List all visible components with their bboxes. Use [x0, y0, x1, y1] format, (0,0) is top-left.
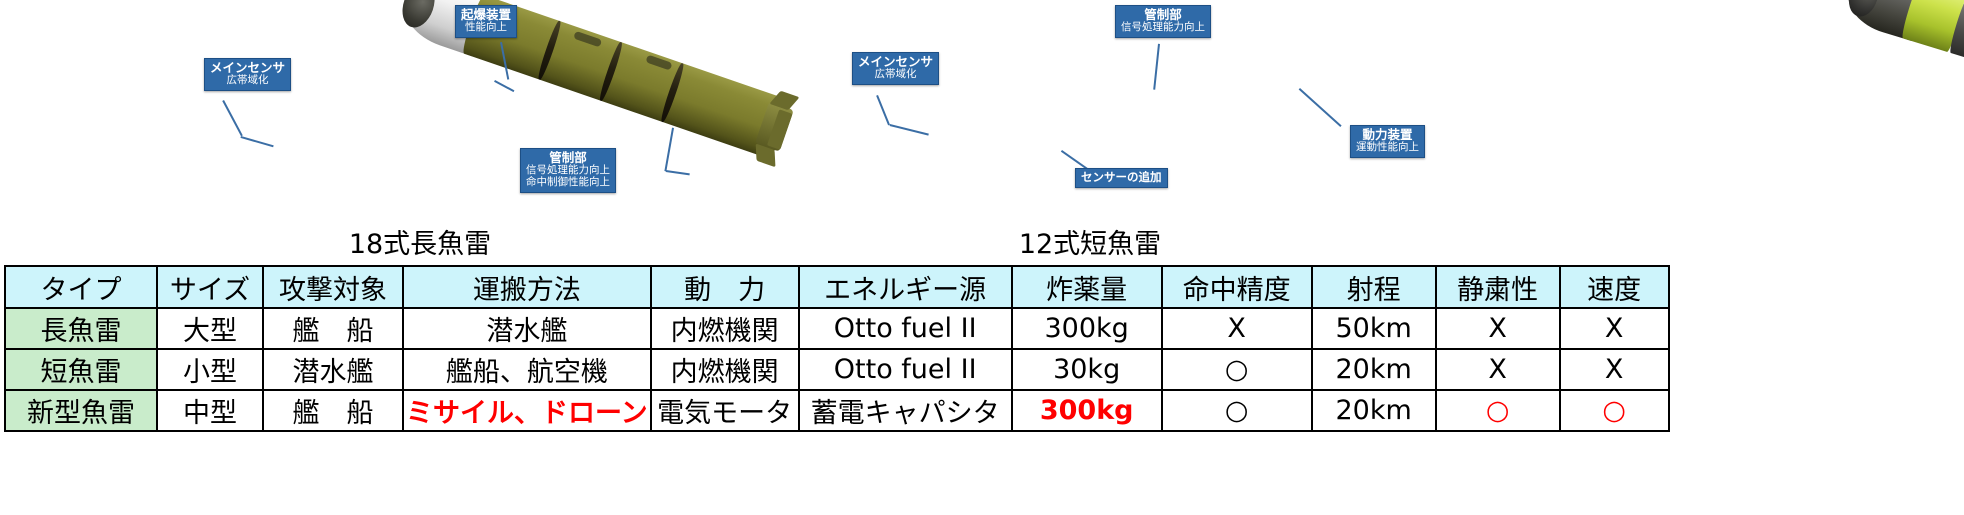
cell-size: 小型 — [157, 349, 263, 390]
column-header-accuracy: 命中精度 — [1162, 266, 1312, 308]
table-header-row: タイプ サイズ 攻撃対象 運搬方法 動 力 エネルギー源 炸薬量 命中精度 射程… — [5, 266, 1669, 308]
cell-target: 艦 船 — [263, 390, 403, 431]
callout-title: センサーの追加 — [1081, 171, 1162, 184]
table-row: 短魚雷 小型 潜水艦 艦船、航空機 内燃機関 Otto fuel II 30kg… — [5, 349, 1669, 390]
callout-title: メインセンサ — [210, 61, 285, 75]
callout-title: 起爆装置 — [461, 8, 511, 22]
callout-power-unit: 動力装置 運動性能向上 — [1350, 125, 1425, 158]
callout-subtitle: 信号処理能力向上 — [1121, 22, 1205, 34]
cell-type: 長魚雷 — [5, 308, 157, 349]
cell-energy: 蓄電キャパシタ — [799, 390, 1012, 431]
callout-control-unit: 管制部 信号処理能力向上 命中制御性能向上 — [520, 148, 616, 193]
figure-caption-type12: 12式短魚雷 — [880, 222, 1300, 261]
cell-speed: X — [1560, 308, 1669, 349]
cell-warhead: 300kg — [1012, 308, 1162, 349]
figure-type18-torpedo: メインセンサ 広帯域化 起爆装置 性能向上 管制部 信号処理能力向上 命中制御性… — [150, 0, 790, 250]
cell-quietness: X — [1436, 308, 1560, 349]
column-header-target: 攻撃対象 — [263, 266, 403, 308]
cell-range: 50km — [1312, 308, 1436, 349]
callout-title: メインセンサ — [858, 55, 933, 69]
cell-size: 大型 — [157, 308, 263, 349]
callout-sensor-addition: センサーの追加 — [1075, 168, 1168, 188]
callout-main-sensor: メインセンサ 広帯域化 — [852, 52, 939, 85]
leader-line-power-unit — [1299, 88, 1342, 127]
table-row: 新型魚雷 中型 艦 船 ミサイル、ドローン 電気モータ 蓄電キャパシタ 300k… — [5, 390, 1669, 431]
cell-warhead: 300kg — [1012, 390, 1162, 431]
cell-propulsion: 内燃機関 — [651, 308, 799, 349]
cell-range: 20km — [1312, 390, 1436, 431]
cell-target: 艦 船 — [263, 308, 403, 349]
callout-main-sensor: メインセンサ 広帯域化 — [204, 58, 291, 91]
cell-type: 短魚雷 — [5, 349, 157, 390]
column-header-propulsion: 動 力 — [651, 266, 799, 308]
cell-type: 新型魚雷 — [5, 390, 157, 431]
column-header-size: サイズ — [157, 266, 263, 308]
callout-subtitle: 性能向上 — [461, 22, 511, 34]
cell-energy: Otto fuel II — [799, 308, 1012, 349]
callout-subtitle: 広帯域化 — [858, 69, 933, 81]
callout-control-unit: 管制部 信号処理能力向上 — [1115, 5, 1211, 38]
cell-quietness: X — [1436, 349, 1560, 390]
column-header-energy: エネルギー源 — [799, 266, 1012, 308]
torpedo-comparison-table: タイプ サイズ 攻撃対象 運搬方法 動 力 エネルギー源 炸薬量 命中精度 射程… — [4, 265, 1670, 432]
cell-accuracy: ○ — [1162, 390, 1312, 431]
leader-line-control-unit — [1154, 44, 1160, 90]
cell-propulsion: 電気モータ — [651, 390, 799, 431]
cell-speed: X — [1560, 349, 1669, 390]
cell-accuracy: ○ — [1162, 349, 1312, 390]
cell-quietness: ○ — [1436, 390, 1560, 431]
leader-line-main-sensor — [890, 124, 929, 135]
column-header-delivery: 運搬方法 — [403, 266, 651, 308]
leader-line-main-sensor — [223, 100, 243, 136]
cell-range: 20km — [1312, 349, 1436, 390]
cell-energy: Otto fuel II — [799, 349, 1012, 390]
cell-speed: ○ — [1560, 390, 1669, 431]
cell-delivery: 艦船、航空機 — [403, 349, 651, 390]
callout-subtitle: 信号処理能力向上 — [526, 165, 610, 177]
table-body: 長魚雷 大型 艦 船 潜水艦 内燃機関 Otto fuel II 300kg X… — [5, 308, 1669, 431]
figure-type12-torpedo: メインセンサ 広帯域化 管制部 信号処理能力向上 センサーの追加 動力装置 運動… — [830, 0, 1510, 250]
cell-delivery: 潜水艦 — [403, 308, 651, 349]
table-header: タイプ サイズ 攻撃対象 運搬方法 動 力 エネルギー源 炸薬量 命中精度 射程… — [5, 266, 1669, 308]
callout-subtitle: 広帯域化 — [210, 75, 285, 87]
column-header-speed: 速度 — [1560, 266, 1669, 308]
cell-delivery: ミサイル、ドローン — [403, 390, 651, 431]
table-row: 長魚雷 大型 艦 船 潜水艦 内燃機関 Otto fuel II 300kg X… — [5, 308, 1669, 349]
cell-accuracy: X — [1162, 308, 1312, 349]
cell-propulsion: 内燃機関 — [651, 349, 799, 390]
cell-size: 中型 — [157, 390, 263, 431]
column-header-range: 射程 — [1312, 266, 1436, 308]
leader-line-main-sensor — [877, 95, 890, 125]
leader-line-main-sensor — [241, 136, 274, 147]
figure-caption-type18: 18式長魚雷 — [230, 222, 610, 261]
callout-title: 動力装置 — [1356, 128, 1419, 142]
slide-canvas: メインセンサ 広帯域化 起爆装置 性能向上 管制部 信号処理能力向上 命中制御性… — [0, 0, 1964, 515]
column-header-type: タイプ — [5, 266, 157, 308]
column-header-quietness: 静粛性 — [1436, 266, 1560, 308]
column-header-warhead: 炸薬量 — [1012, 266, 1162, 308]
torpedo-illustration-type12 — [1820, 0, 1964, 226]
callout-subtitle-2: 命中制御性能向上 — [526, 177, 610, 189]
callout-title: 管制部 — [1121, 8, 1205, 22]
callout-detonator: 起爆装置 性能向上 — [455, 5, 517, 38]
cell-target: 潜水艦 — [263, 349, 403, 390]
cell-warhead: 30kg — [1012, 349, 1162, 390]
callout-subtitle: 運動性能向上 — [1356, 142, 1419, 154]
callout-title: 管制部 — [526, 151, 610, 165]
